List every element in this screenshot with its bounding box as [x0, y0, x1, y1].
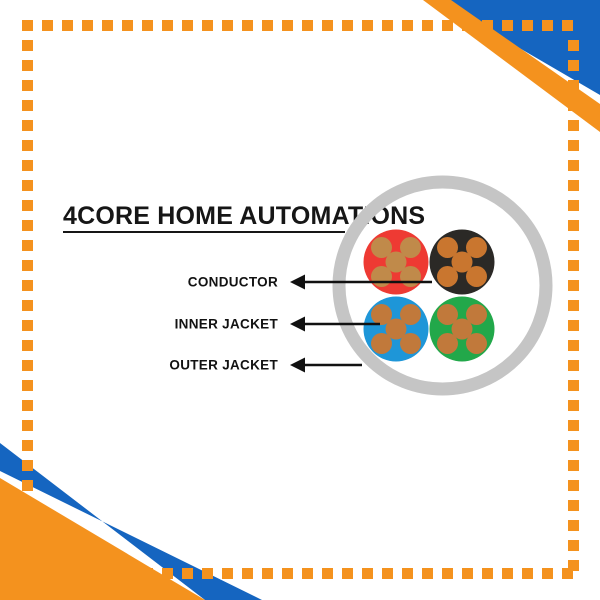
leader-outer-jacket — [290, 358, 362, 373]
leader-conductor — [290, 275, 432, 290]
callout-leader-lines — [0, 0, 600, 600]
poster-canvas: 4CORE HOME AUTOMATIONS CONDUCTOR INNER J… — [0, 0, 600, 600]
arrow-head-icon — [290, 275, 305, 290]
arrow-head-icon — [290, 358, 305, 373]
arrow-head-icon — [290, 317, 305, 332]
leader-inner-jacket — [290, 317, 380, 332]
